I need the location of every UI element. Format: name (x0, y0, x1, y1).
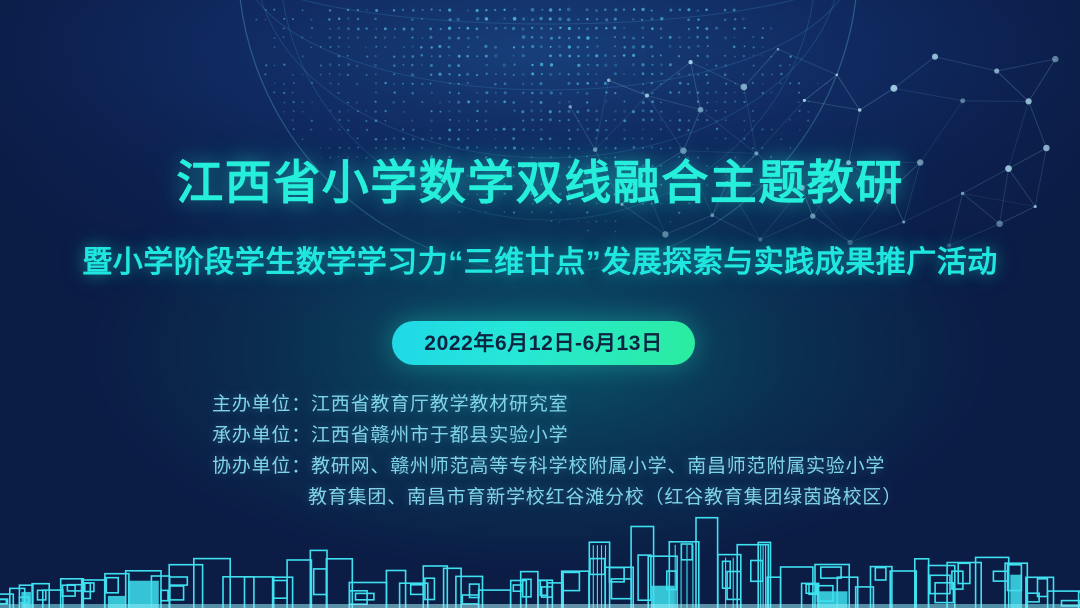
skyline-baseline (0, 604, 1080, 608)
organizer-list: 主办单位：江西省教育厅教学教材研究室承办单位：江西省赣州市于都县实验小学协办单位… (212, 389, 972, 513)
city-skyline-icon (0, 512, 1080, 608)
poster-canvas: 江西省小学数学双线融合主题教研 暨小学阶段学生数学学习力“三维廿点”发展探索与实… (0, 0, 1080, 608)
date-badge-label: 2022年6月12日-6月13日 (424, 333, 662, 354)
organizer-line: 主办单位：江西省教育厅教学教材研究室 (212, 389, 972, 420)
page-title: 江西省小学数学双线融合主题教研 (0, 154, 1080, 212)
page-subtitle: 暨小学阶段学生数学学习力“三维廿点”发展探索与实践成果推广活动 (0, 243, 1080, 283)
organizer-line: 承办单位：江西省赣州市于都县实验小学 (212, 420, 972, 451)
date-badge: 2022年6月12日-6月13日 (392, 321, 695, 365)
organizer-line: 协办单位：教研网、赣州师范高等专科学校附属小学、南昌师范附属实验小学 (212, 451, 972, 482)
organizer-line: 教育集团、南昌市育新学校红谷滩分校（红谷教育集团绿茵路校区） (212, 482, 972, 513)
